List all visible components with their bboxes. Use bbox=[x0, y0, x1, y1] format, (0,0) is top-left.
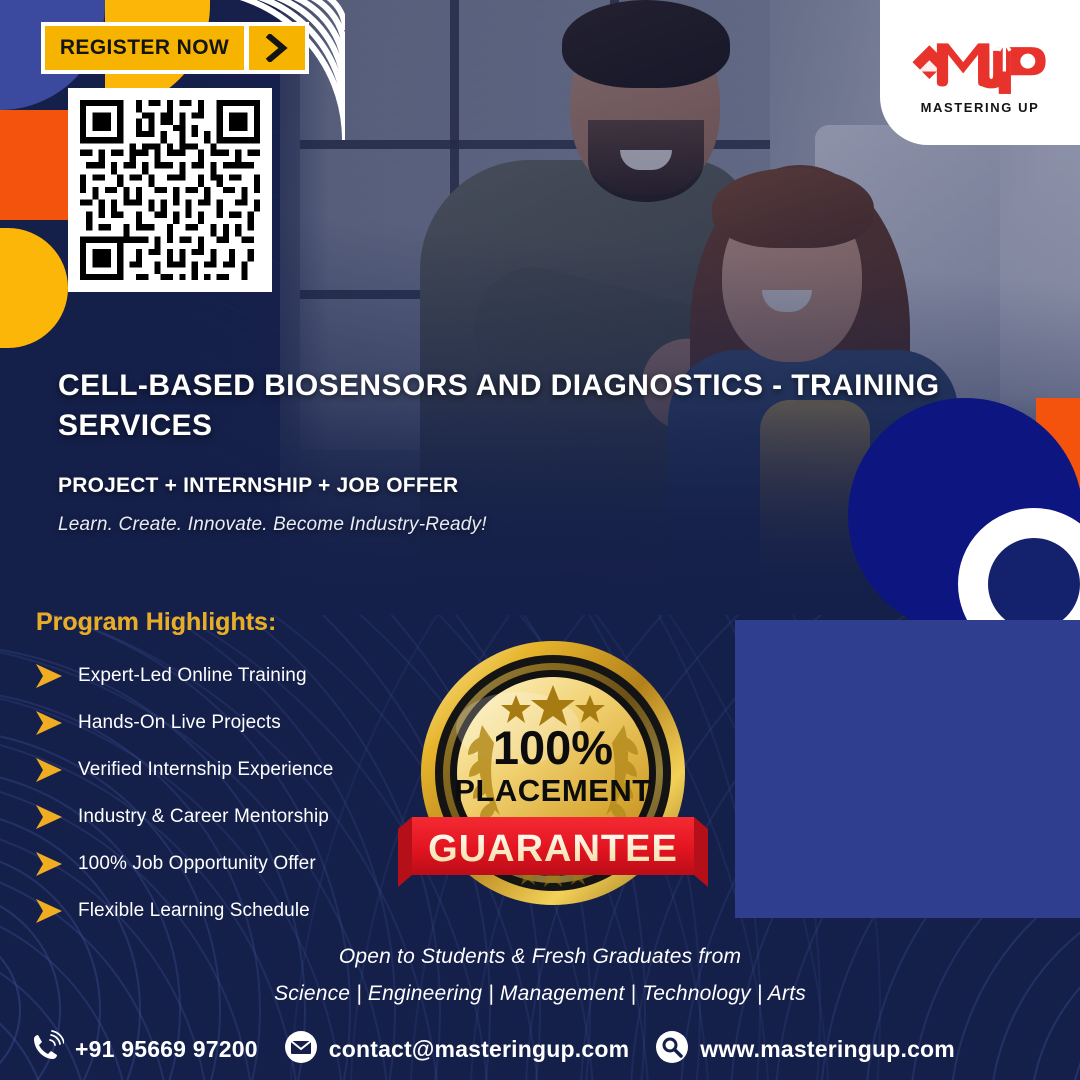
audience-line-1: Open to Students & Fresh Graduates from bbox=[0, 945, 1080, 969]
page-tagline: Learn. Create. Innovate. Become Industry… bbox=[58, 514, 1038, 536]
brand-logo-card: MASTERING UP bbox=[880, 0, 1080, 145]
contact-website[interactable]: www.masteringup.com bbox=[655, 1030, 955, 1069]
website-url: www.masteringup.com bbox=[700, 1036, 955, 1063]
list-item: Industry & Career Mentorship bbox=[34, 804, 434, 830]
audience-line-2: Science | Engineering | Management | Tec… bbox=[0, 982, 1080, 1006]
phone-icon bbox=[30, 1030, 64, 1069]
arrow-bullet-icon bbox=[34, 757, 64, 783]
register-now-arrow[interactable] bbox=[249, 26, 305, 70]
qr-code[interactable] bbox=[68, 88, 272, 292]
placement-guarantee-badge: 100% PLACEMENT GUARANTEE bbox=[398, 633, 708, 918]
envelope-icon bbox=[284, 1030, 318, 1069]
email-address: contact@masteringup.com bbox=[329, 1036, 630, 1063]
highlight-label: Verified Internship Experience bbox=[78, 759, 333, 781]
page-title: CELL-BASED BIOSENSORS AND DIAGNOSTICS - … bbox=[58, 366, 1038, 446]
brand-logo-text: MASTERING UP bbox=[921, 100, 1040, 115]
arrow-bullet-icon bbox=[34, 898, 64, 924]
register-now-label: REGISTER NOW bbox=[60, 36, 229, 60]
chevron-right-icon bbox=[265, 34, 289, 62]
arrow-bullet-icon bbox=[34, 804, 64, 830]
mup-logo-icon bbox=[905, 30, 1055, 96]
list-item: Verified Internship Experience bbox=[34, 757, 434, 783]
list-item: Hands-On Live Projects bbox=[34, 710, 434, 736]
arrow-bullet-icon bbox=[34, 851, 64, 877]
page-subtitle: PROJECT + INTERNSHIP + JOB OFFER bbox=[58, 474, 1038, 498]
phone-number: +91 95669 97200 bbox=[75, 1036, 258, 1063]
highlight-label: Flexible Learning Schedule bbox=[78, 900, 310, 922]
contact-bar: +91 95669 97200 contact@masteringup.com bbox=[0, 1018, 1080, 1080]
register-now-button[interactable]: REGISTER NOW bbox=[41, 22, 309, 74]
badge-percent: 100% bbox=[493, 721, 613, 774]
highlight-label: Expert-Led Online Training bbox=[78, 665, 307, 687]
arrow-bullet-icon bbox=[34, 710, 64, 736]
list-item: Flexible Learning Schedule bbox=[34, 898, 434, 924]
registration-panel bbox=[735, 620, 1080, 918]
badge-label: PLACEMENT bbox=[454, 773, 651, 808]
list-item: 100% Job Opportunity Offer bbox=[34, 851, 434, 877]
arrow-bullet-icon bbox=[34, 663, 64, 689]
program-highlights: Program Highlights: Expert-Led Online Tr… bbox=[34, 608, 434, 945]
highlight-label: 100% Job Opportunity Offer bbox=[78, 853, 316, 875]
list-item: Expert-Led Online Training bbox=[34, 663, 434, 689]
highlight-label: Industry & Career Mentorship bbox=[78, 806, 329, 828]
audience-note: Open to Students & Fresh Graduates from … bbox=[0, 945, 1080, 1006]
badge-ribbon: GUARANTEE bbox=[428, 828, 678, 870]
highlights-heading: Program Highlights: bbox=[36, 608, 434, 637]
headline-block: CELL-BASED BIOSENSORS AND DIAGNOSTICS - … bbox=[58, 366, 1038, 536]
register-now-label-box[interactable]: REGISTER NOW bbox=[45, 26, 244, 70]
contact-phone[interactable]: +91 95669 97200 bbox=[30, 1030, 258, 1069]
highlight-label: Hands-On Live Projects bbox=[78, 712, 281, 734]
promo-poster: MASTERING UP CELL-BASED BIOSENSORS AND D… bbox=[0, 0, 1080, 1080]
contact-email[interactable]: contact@masteringup.com bbox=[284, 1030, 630, 1069]
search-icon bbox=[655, 1030, 689, 1069]
